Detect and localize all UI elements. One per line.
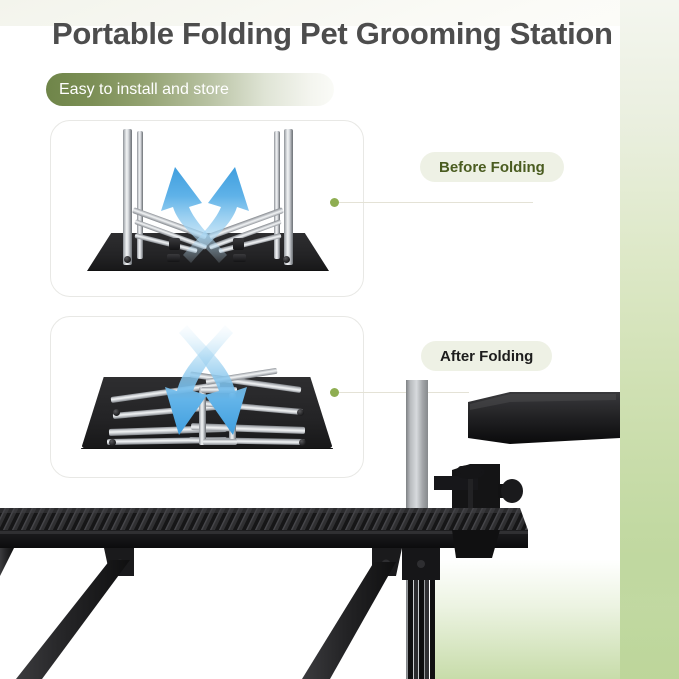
connector-dot-before [330, 198, 339, 207]
subtitle-badge-label: Easy to install and store [59, 81, 229, 99]
product-infographic: Portable Folding Pet Grooming Station Ea… [0, 0, 679, 679]
label-after-folding: After Folding [421, 341, 552, 371]
connector-line-before [339, 202, 533, 203]
label-before-folding: Before Folding [420, 152, 564, 182]
subtitle-badge: Easy to install and store [46, 73, 334, 106]
arrow-up-pair-icon [51, 121, 363, 296]
right-green-band [620, 0, 679, 679]
connector-dot-after [330, 388, 339, 397]
connector-line-after [339, 392, 469, 393]
panel-before-folding [50, 120, 364, 297]
panel-after-folding [50, 316, 364, 478]
page-title: Portable Folding Pet Grooming Station [52, 16, 613, 52]
arrow-down-pair-icon [51, 317, 363, 477]
